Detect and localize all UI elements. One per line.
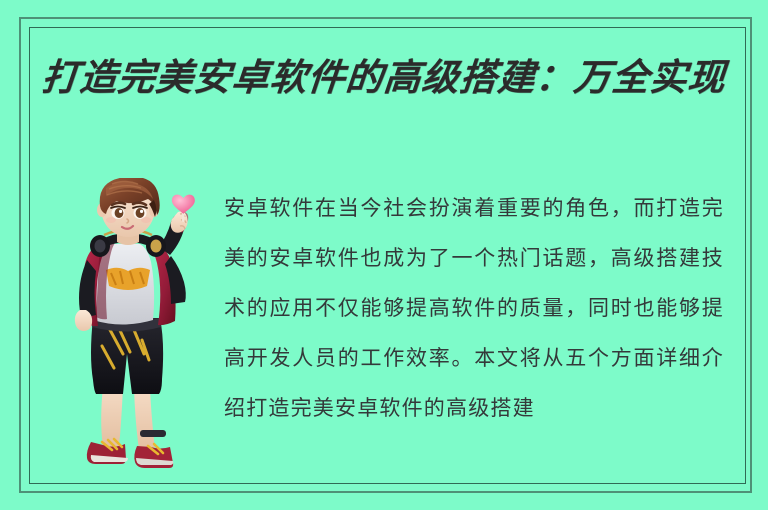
article-body: 安卓软件在当今社会扮演着重要的角色，而打造完美的安卓软件也成为了一个热门话题，高…	[224, 183, 724, 483]
article-card: 打造完美安卓软件的高级搭建：万全实现	[0, 0, 768, 510]
chibi-character-illustration	[62, 178, 214, 478]
article-title: 打造完美安卓软件的高级搭建：万全实现	[40, 52, 734, 102]
